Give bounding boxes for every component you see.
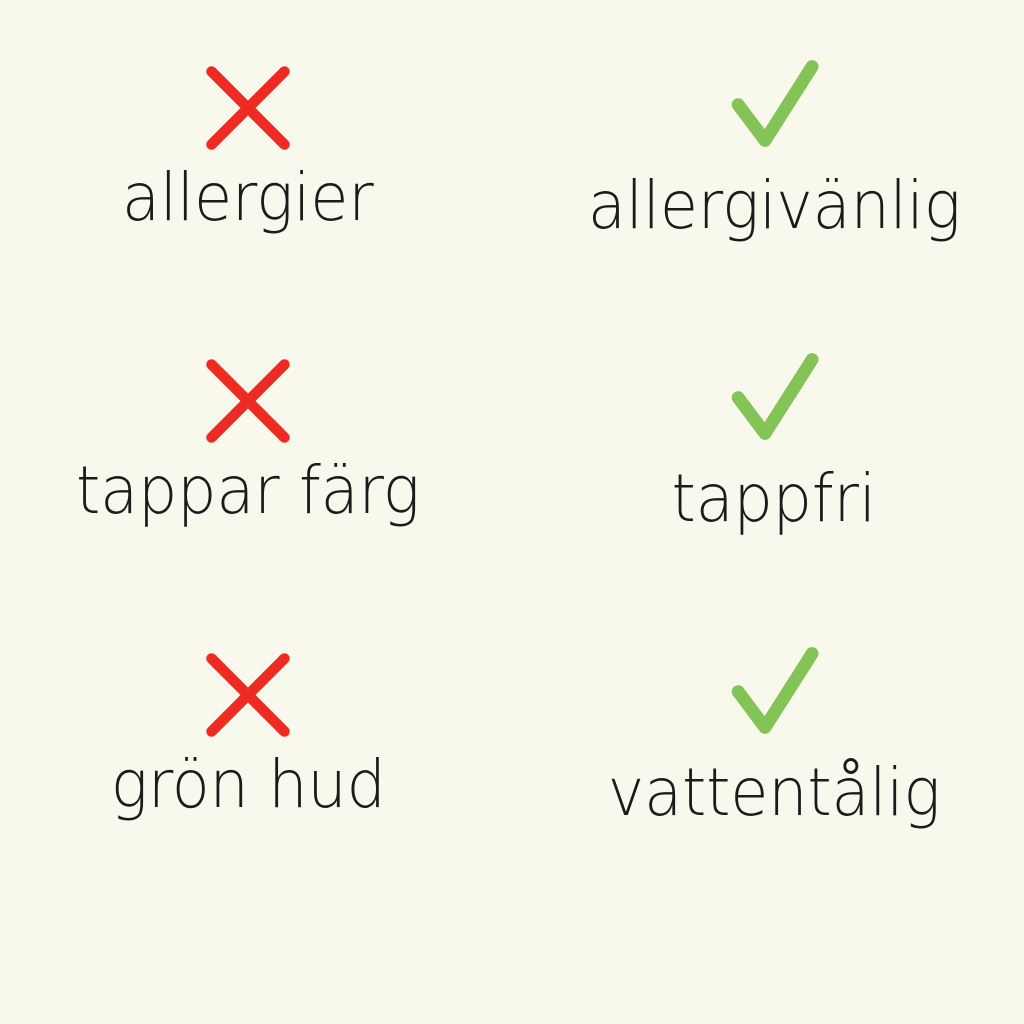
comparison-label-negative-1: allergier bbox=[122, 162, 374, 233]
comparison-label-negative-3: grön hud bbox=[111, 749, 386, 820]
check-icon bbox=[718, 639, 830, 751]
comparison-label-positive-2: tappfri bbox=[672, 463, 876, 534]
comparison-cell-negative-1: allergier bbox=[0, 0, 512, 293]
comparison-cell-positive-1: allergivänlig bbox=[512, 0, 1024, 293]
comparison-cell-positive-2: tappfri bbox=[512, 293, 1024, 586]
comparison-label-negative-2: tappar färg bbox=[76, 455, 420, 526]
comparison-board: allergier allergivänlig tappar färg tapp… bbox=[0, 0, 1024, 1024]
check-icon bbox=[718, 345, 830, 457]
cross-icon bbox=[200, 647, 296, 743]
comparison-cell-negative-3: grön hud bbox=[0, 587, 512, 880]
comparison-label-positive-1: allergivänlig bbox=[588, 170, 961, 241]
comparison-cell-negative-2: tappar färg bbox=[0, 293, 512, 586]
cross-icon bbox=[200, 353, 296, 449]
comparison-cell-positive-3: vattentålig bbox=[512, 587, 1024, 880]
comparison-grid: allergier allergivänlig tappar färg tapp… bbox=[0, 0, 1024, 880]
comparison-label-positive-3: vattentålig bbox=[608, 757, 941, 828]
check-icon bbox=[718, 52, 830, 164]
cross-icon bbox=[200, 60, 296, 156]
